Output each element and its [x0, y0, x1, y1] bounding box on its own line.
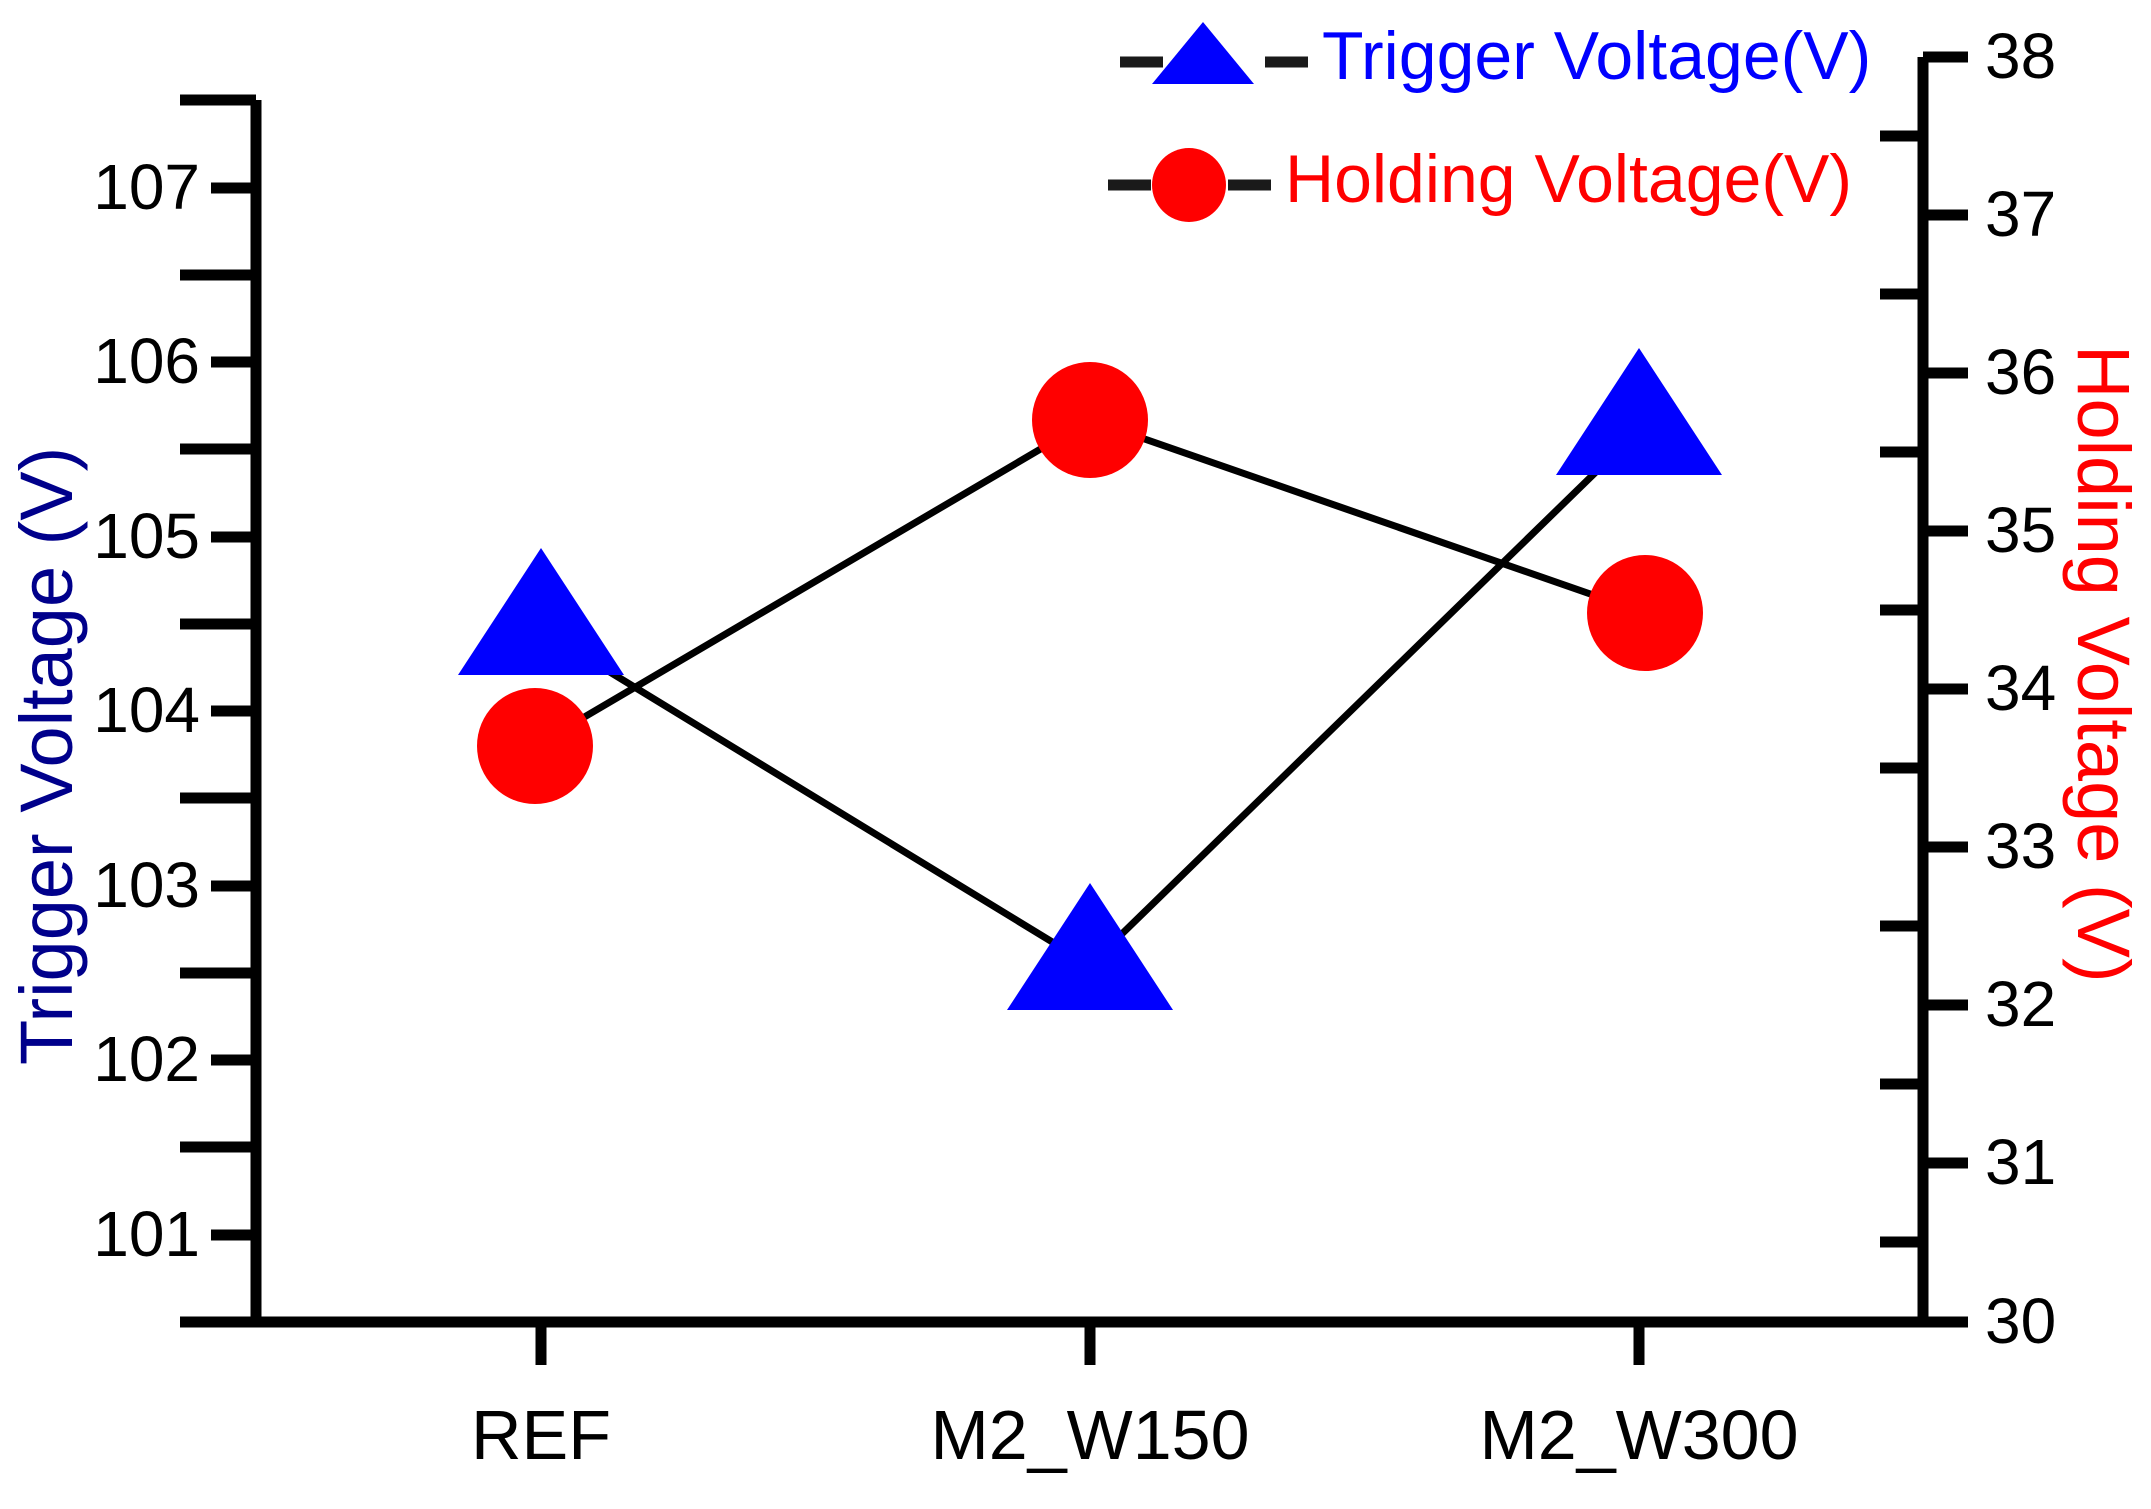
- right-tick-label-30: 30: [1985, 1289, 2056, 1353]
- legend-marker-holding: [1108, 148, 1271, 222]
- left-tick-label-107: 107: [20, 155, 200, 219]
- right-axis-minor-ticks: [1880, 136, 1923, 1242]
- data-point-holding-m2w300[interactable]: [1587, 555, 1703, 671]
- right-tick-label-33: 33: [1985, 814, 2056, 878]
- data-point-holding-ref[interactable]: [477, 688, 593, 804]
- right-tick-label-35: 35: [1985, 498, 2056, 562]
- right-axis-title: Holding Voltage (V): [2066, 345, 2140, 983]
- right-tick-label-36: 36: [1985, 340, 2056, 404]
- left-tick-label-101: 101: [20, 1202, 200, 1266]
- left-axis-title: Trigger Voltage (V): [10, 447, 84, 1065]
- left-axis-major-ticks: [211, 188, 256, 1235]
- legend-marker-trigger: [1120, 22, 1308, 84]
- x-axis-label-ref: REF: [341, 1400, 741, 1470]
- right-tick-label-31: 31: [1985, 1130, 2056, 1194]
- right-tick-label-32: 32: [1985, 972, 2056, 1036]
- x-axis-label-m2w150: M2_W150: [890, 1400, 1290, 1470]
- x-axis-label-m2w300: M2_W300: [1439, 1400, 1839, 1470]
- left-tick-label-106: 106: [20, 329, 200, 393]
- data-point-trigger-ref[interactable]: [458, 548, 624, 675]
- chart-canvas: [0, 0, 2151, 1509]
- holding-voltage-markers: [477, 362, 1703, 804]
- chart-container: 107 106 105 104 103 102 101 38 37 36 35 …: [0, 0, 2151, 1509]
- data-point-trigger-m2w150[interactable]: [1007, 883, 1173, 1010]
- triangle-icon: [1152, 22, 1254, 84]
- right-axis-major-ticks: [1923, 57, 1968, 1322]
- right-tick-label-37: 37: [1985, 182, 2056, 246]
- right-tick-label-34: 34: [1985, 656, 2056, 720]
- data-point-trigger-m2w300[interactable]: [1556, 348, 1722, 475]
- data-point-holding-m2w150[interactable]: [1032, 362, 1148, 478]
- circle-icon: [1152, 148, 1226, 222]
- x-axis-ticks: [541, 1322, 1639, 1365]
- right-tick-label-38: 38: [1985, 24, 2056, 88]
- legend-label-trigger-voltage[interactable]: Trigger Voltage(V): [1322, 22, 1871, 90]
- legend-label-holding-voltage[interactable]: Holding Voltage(V): [1285, 145, 1852, 213]
